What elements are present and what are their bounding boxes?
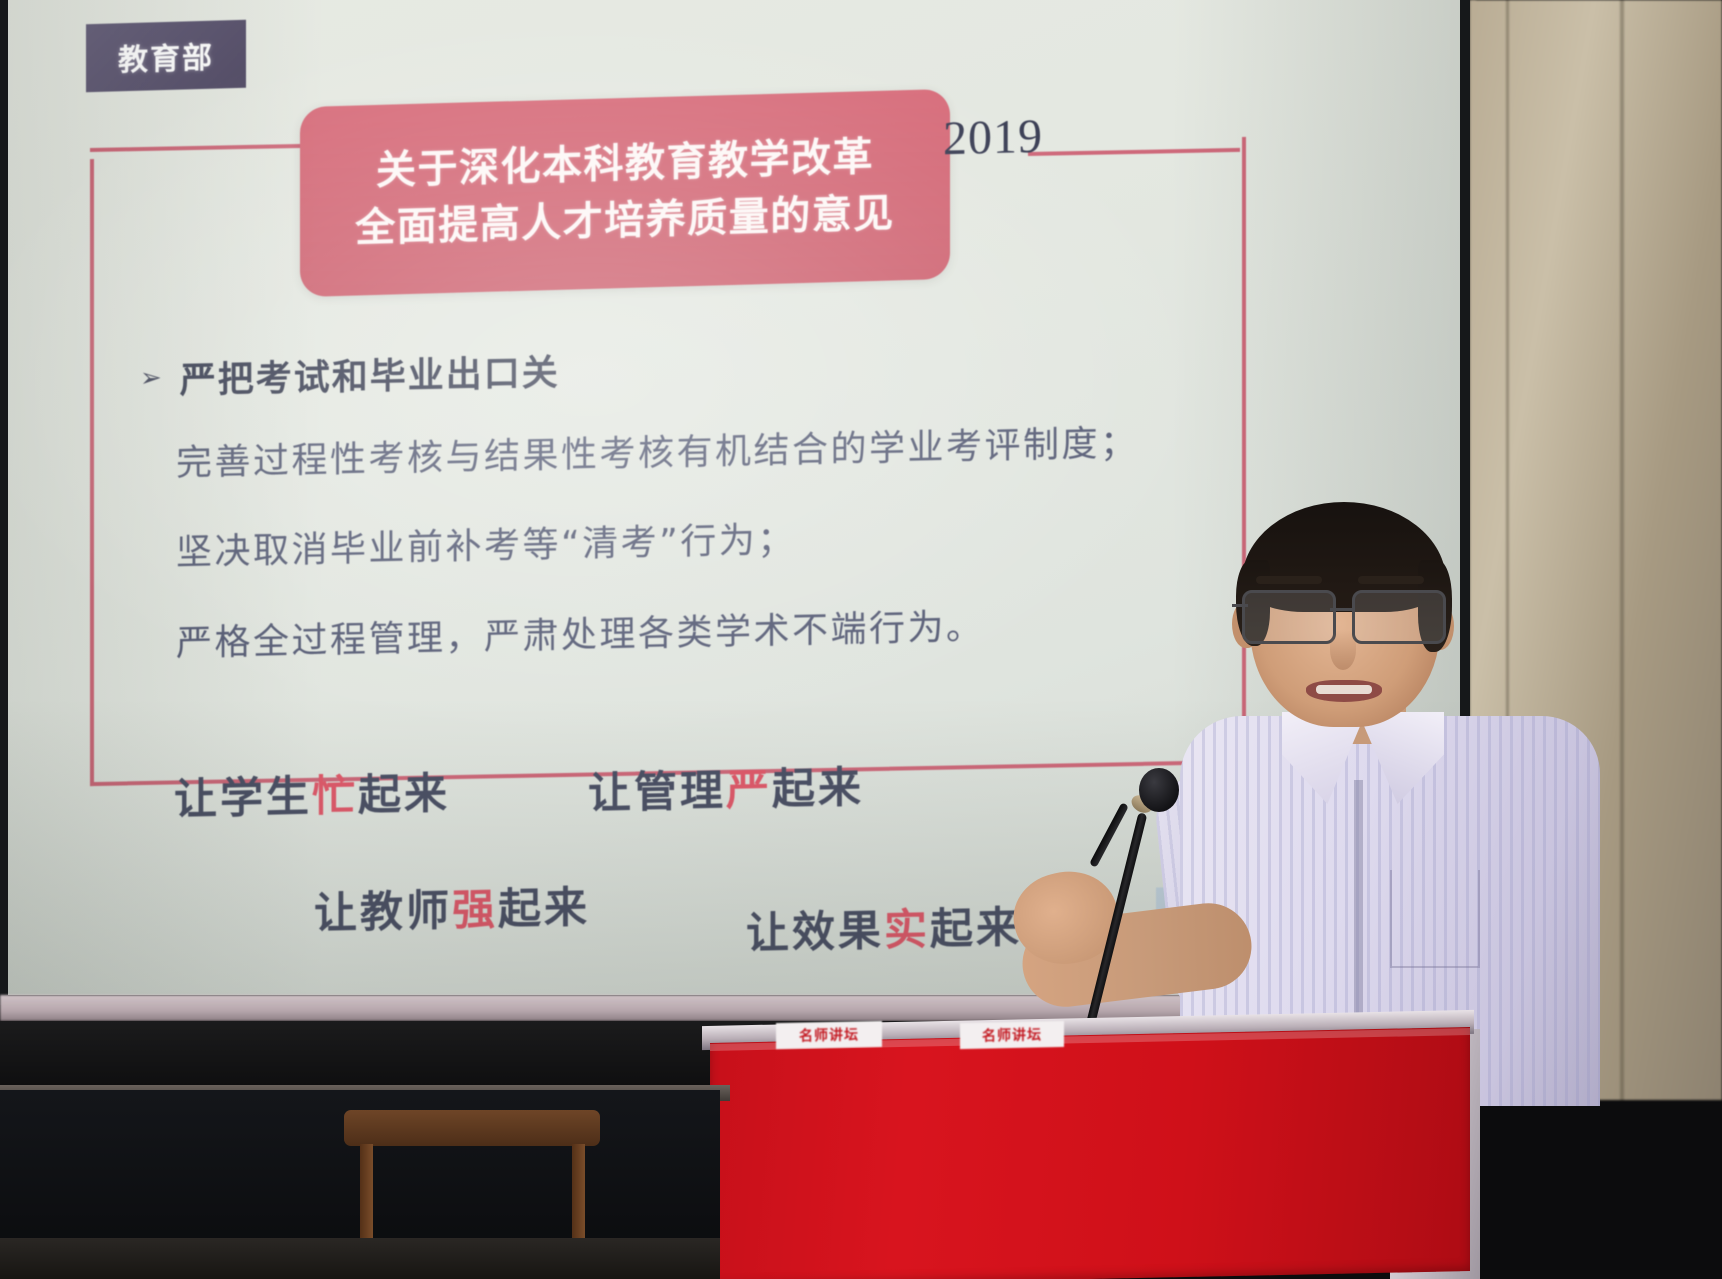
podium-nameplate-right: 名师讲坛 xyxy=(960,1021,1064,1049)
glasses-bridge xyxy=(1330,608,1354,611)
slogan-teachers-pre: 让教师 xyxy=(314,886,452,939)
presentation-photo: 教育部 关于深化本科教育教学改革 全面提高人才培养质量的意见 2019 ➢ 严把… xyxy=(0,0,1722,1279)
slogan-results-highlight: 实 xyxy=(884,905,930,956)
slogan-students-highlight: 忙 xyxy=(312,771,358,822)
glasses-lens-right xyxy=(1352,590,1446,644)
content-box-border-top-left xyxy=(90,144,320,152)
microphone-icon[interactable] xyxy=(1139,768,1179,812)
bullet-arrow-icon: ➢ xyxy=(140,365,162,391)
slogan-management: 让管理严起来 xyxy=(588,753,864,821)
slide-title-banner: 关于深化本科教育教学改革 全面提高人才培养质量的意见 xyxy=(300,89,950,297)
chair-backrest xyxy=(344,1110,600,1146)
slogan-students-pre: 让学生 xyxy=(174,772,312,825)
speaker-eyebrow-left xyxy=(1256,576,1322,584)
podium xyxy=(710,1027,1470,1279)
slogan-students-post: 起来 xyxy=(358,769,450,821)
speaker-nose xyxy=(1330,630,1356,670)
shirt-pocket xyxy=(1390,870,1480,968)
glasses-temple xyxy=(1232,604,1248,607)
slogan-results-pre: 让效果 xyxy=(746,906,884,959)
ministry-badge: 教育部 xyxy=(86,20,246,92)
slogan-results: 让效果实起来 xyxy=(746,893,1022,961)
speaker-person xyxy=(1140,480,1610,1100)
slogan-teachers-post: 起来 xyxy=(498,883,590,935)
floor xyxy=(0,1238,720,1279)
speaker-eyebrow-right xyxy=(1358,576,1424,584)
slogan-management-highlight: 严 xyxy=(726,765,772,816)
bullet-heading-text: 严把考试和毕业出口关 xyxy=(180,344,560,404)
speaker-mouth xyxy=(1306,680,1382,702)
slogan-results-post: 起来 xyxy=(930,903,1022,955)
podium-nameplate-left: 名师讲坛 xyxy=(776,1021,882,1049)
glasses-lens-left xyxy=(1242,590,1336,644)
slogan-teachers: 让教师强起来 xyxy=(314,873,590,941)
slogan-teachers-highlight: 强 xyxy=(452,885,498,936)
slogan-management-pre: 让管理 xyxy=(588,766,726,819)
slogan-management-post: 起来 xyxy=(772,763,864,815)
slogan-students: 让学生忙起来 xyxy=(174,759,450,827)
slide-year: 2019 xyxy=(943,109,1043,166)
